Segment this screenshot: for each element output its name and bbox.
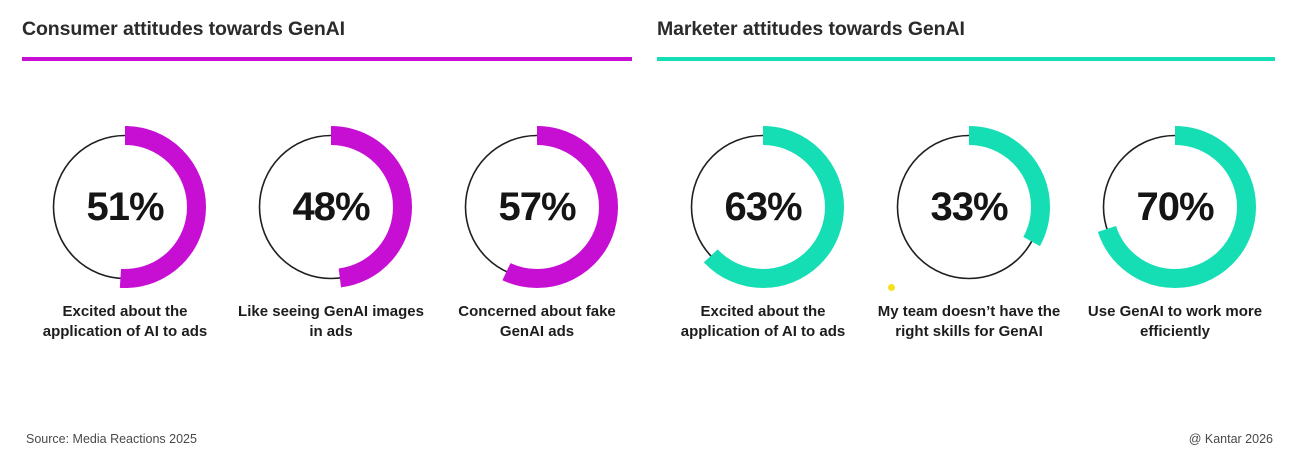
donut-caption: My team doesn’t have the right skills fo…: [869, 302, 1069, 342]
donut-value-label: 51%: [44, 126, 206, 288]
footer-copyright-text: @ Kantar 2026: [1189, 432, 1273, 446]
panel-title-marketer: Marketer attitudes towards GenAI: [657, 18, 1275, 41]
donut-value-label: 57%: [456, 126, 618, 288]
donut-value-label: 63%: [682, 126, 844, 288]
donut-chart: 51%: [44, 126, 206, 288]
donut-chart: 57%: [456, 126, 618, 288]
gauge-marketer-excited: 63% Excited about the application of AI …: [660, 126, 866, 342]
donut-chart: 33%: [888, 126, 1050, 288]
donut-chart: 48%: [250, 126, 412, 288]
gauge-consumer-like-images: 48% Like seeing GenAI images in ads: [228, 126, 434, 342]
gauge-marketer-efficiency: 70% Use GenAI to work more efficiently: [1072, 126, 1278, 342]
gauge-consumer-excited: 51% Excited about the application of AI …: [22, 126, 228, 342]
panel-marketer: Marketer attitudes towards GenAI: [657, 0, 1275, 61]
donut-chart: 63%: [682, 126, 844, 288]
panel-rule-consumer: [22, 57, 632, 61]
donut-caption: Concerned about fake GenAI ads: [442, 302, 632, 342]
panel-consumer: Consumer attitudes towards GenAI: [22, 0, 632, 61]
gauge-consumer-fake-ads: 57% Concerned about fake GenAI ads: [434, 126, 640, 342]
donut-caption: Like seeing GenAI images in ads: [236, 302, 426, 342]
donut-value-label: 33%: [888, 126, 1050, 288]
donut-value-label: 48%: [250, 126, 412, 288]
gauge-row-consumer: 51% Excited about the application of AI …: [22, 126, 642, 342]
panel-rule-marketer: [657, 57, 1275, 61]
yellow-dot-marker: [888, 284, 895, 291]
panel-title-consumer: Consumer attitudes towards GenAI: [22, 18, 632, 41]
footer-source-text: Source: Media Reactions 2025: [26, 432, 197, 446]
donut-chart: 70%: [1094, 126, 1256, 288]
infographic-page: Consumer attitudes towards GenAI 51% Exc…: [0, 0, 1291, 469]
donut-value-label: 70%: [1094, 126, 1256, 288]
donut-caption: Excited about the application of AI to a…: [663, 302, 863, 342]
gauge-marketer-skills: 33% My team doesn’t have the right skill…: [866, 126, 1072, 342]
donut-caption: Use GenAI to work more efficiently: [1080, 302, 1270, 342]
gauge-row-marketer: 63% Excited about the application of AI …: [660, 126, 1278, 342]
donut-caption: Excited about the application of AI to a…: [25, 302, 225, 342]
